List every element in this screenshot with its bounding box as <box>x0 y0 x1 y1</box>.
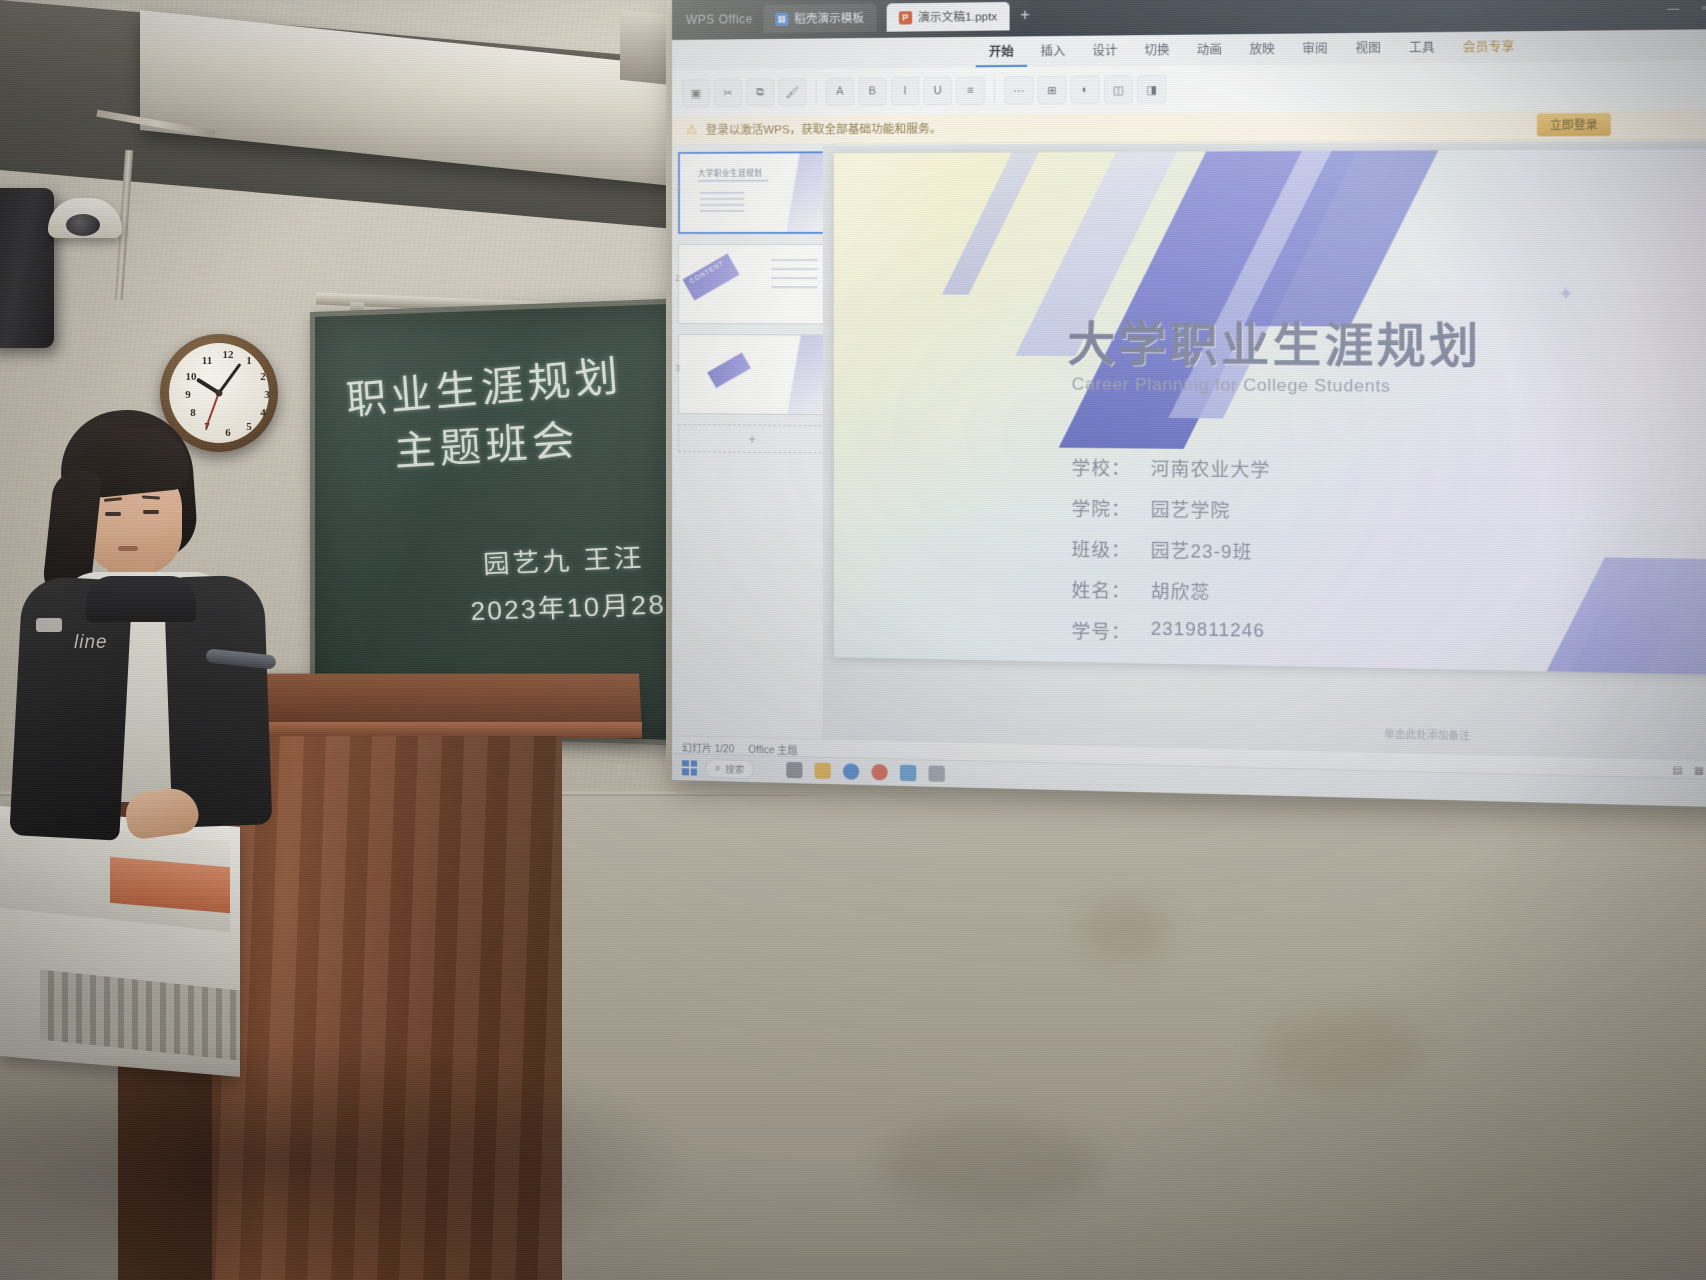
wall-stain <box>1260 1010 1420 1090</box>
notes-pane[interactable]: 单击此处添加备注 <box>976 697 1706 714</box>
arrange-icon[interactable]: ◫ <box>1104 75 1133 104</box>
login-now-button[interactable]: 立即登录 <box>1537 113 1611 136</box>
sparkle-icon: ✦ <box>1558 283 1574 305</box>
wps-office-window: WPS Office ▦ 稻壳演示模板 P 演示文稿1.pptx + — ▫ ✕ <box>672 0 1706 808</box>
login-banner: ⚠ 登录以激活WPS，获取全部基础功能和服务。 立即登录 <box>672 109 1706 145</box>
thumbnail-content-band <box>707 353 751 389</box>
app-icon[interactable] <box>900 765 916 782</box>
camera-lens-icon <box>66 214 100 236</box>
minimize-button[interactable]: — <box>1659 0 1688 20</box>
ribbon-tab-insert[interactable]: 插入 <box>1027 36 1079 67</box>
info-key: 姓名： <box>1072 576 1151 604</box>
select-icon[interactable]: ◨ <box>1137 75 1166 104</box>
info-value: 胡欣蕊 <box>1151 577 1211 605</box>
info-key: 学校： <box>1072 454 1151 481</box>
maximize-button[interactable]: ▫ <box>1690 0 1706 20</box>
slide-thumbnail-2[interactable]: 2 CONTENT <box>678 244 827 325</box>
presenter-mouth <box>118 546 138 551</box>
thumbnail-info-lines <box>700 192 744 216</box>
info-key: 班级： <box>1072 535 1151 563</box>
wall-speaker <box>0 188 54 348</box>
login-banner-text: 登录以激活WPS，获取全部基础功能和服务。 <box>706 120 942 138</box>
info-key: 学号： <box>1072 617 1151 645</box>
info-row-college: 学院： 园艺学院 <box>1072 495 1271 524</box>
clock-number: 11 <box>199 355 215 367</box>
wps-tab-label: 演示文稿1.pptx <box>918 8 997 25</box>
classroom-photo: 12 1 2 3 4 5 6 7 8 9 10 11 职业生涯规划 主题班会 园… <box>0 0 1706 1280</box>
blackboard-heading-line2: 主题班会 <box>393 406 581 478</box>
ribbon-tab-home[interactable]: 开始 <box>976 36 1028 67</box>
info-row-student-id: 学号： 2319811246 <box>1072 617 1271 647</box>
info-row-class: 班级： 园艺23-9班 <box>1072 535 1271 564</box>
grid-icon: ▦ <box>775 12 788 25</box>
view-normal-icon[interactable]: ▤ <box>1673 765 1683 777</box>
thumbnail-list-lines <box>771 259 817 295</box>
ribbon-tab-review[interactable]: 审阅 <box>1289 33 1342 64</box>
ribbon-toolbar: ▣ ✂ ⧉ 🖌 A B I U ≡ ⋯ ⊞ ◐ ◫ ◨ <box>672 60 1706 117</box>
toolbar-divider <box>994 78 995 102</box>
ribbon-tab-design[interactable]: 设计 <box>1079 35 1131 66</box>
ribbon-tab-animations[interactable]: 动画 <box>1183 34 1236 65</box>
font-icon[interactable]: A <box>826 77 854 105</box>
jacket-logo-badge <box>36 618 62 632</box>
wall-stain <box>880 1120 1100 1210</box>
thumbnail-subtitle-bar <box>698 180 768 182</box>
wps-tab-label: 稻壳演示模板 <box>794 10 864 27</box>
italic-icon[interactable]: I <box>891 77 920 106</box>
slide-subtitle: Career Planning for College Students <box>1072 374 1391 397</box>
info-row-name: 姓名： 胡欣蕊 <box>1072 576 1271 606</box>
presenter-eye <box>143 510 159 514</box>
shape-fill-icon[interactable]: ◐ <box>1071 75 1100 104</box>
browser-icon[interactable] <box>843 763 859 780</box>
presenter: line <box>0 400 280 870</box>
search-placeholder: 搜索 <box>725 761 744 776</box>
slide-number: 1 <box>676 182 681 192</box>
wall-stain <box>1080 900 1170 960</box>
slide-canvas-area[interactable]: ✦ 大学职业生涯规划 Career Planning for College S… <box>823 140 1706 761</box>
blackboard-date-label: 2023年10月28日 <box>470 582 698 628</box>
mail-icon[interactable] <box>929 765 945 782</box>
slide-number: 2 <box>675 273 680 283</box>
explorer-icon[interactable] <box>815 763 831 780</box>
info-key: 学院： <box>1072 495 1151 523</box>
ribbon-tab-member[interactable]: 会员专享 <box>1449 31 1529 63</box>
view-sorter-icon[interactable]: ▦ <box>1694 765 1704 777</box>
add-slide-button[interactable]: + <box>678 424 827 453</box>
clock-number: 2 <box>255 371 271 383</box>
copy-icon[interactable]: ⧉ <box>746 78 774 106</box>
toolbar-divider <box>816 80 817 104</box>
blackboard-class-label: 园艺九 王汪 <box>482 537 645 582</box>
jacket-logo-text: line <box>74 632 108 654</box>
powerpoint-icon: P <box>899 11 912 24</box>
info-value: 园艺23-9班 <box>1151 537 1253 565</box>
chrome-icon[interactable] <box>872 764 888 781</box>
align-icon[interactable]: ≡ <box>956 76 985 105</box>
cut-icon[interactable]: ✂ <box>714 78 742 106</box>
slide-thumbnail-1[interactable]: 1 大学职业生涯规划 <box>678 151 827 234</box>
wps-brand-label: WPS Office <box>686 12 753 27</box>
presenter-jacket-collar <box>86 576 196 622</box>
ribbon-tab-slideshow[interactable]: 放映 <box>1236 34 1289 65</box>
warning-icon: ⚠ <box>686 122 698 138</box>
format-painter-icon[interactable]: 🖌 <box>778 78 806 106</box>
current-slide[interactable]: ✦ 大学职业生涯规划 Career Planning for College S… <box>834 149 1706 675</box>
start-icon[interactable] <box>682 760 697 775</box>
new-tab-button[interactable]: + <box>1020 7 1030 25</box>
underline-icon[interactable]: U <box>923 77 952 106</box>
notes-placeholder: 单击此处添加备注 <box>1384 725 1470 743</box>
presenter-eye <box>105 512 121 516</box>
thumbnail-decoration <box>787 335 825 414</box>
info-value: 河南农业大学 <box>1151 455 1271 483</box>
ribbon-tab-transitions[interactable]: 切换 <box>1131 35 1183 66</box>
bold-icon[interactable]: B <box>858 77 886 105</box>
info-row-school: 学校： 河南农业大学 <box>1072 454 1271 483</box>
window-controls: — ▫ ✕ <box>1659 0 1706 20</box>
paste-icon[interactable]: ▣ <box>682 79 710 107</box>
taskbar-icon-group <box>787 762 946 782</box>
slide-thumbnail-pane[interactable]: 1 大学职业生涯规划 2 CONTENT 3 + <box>672 143 834 742</box>
slide-info-block: 学校： 河南农业大学 学院： 园艺学院 班级： 园艺23-9班 姓名： <box>1072 454 1271 662</box>
clock-number: 1 <box>241 355 257 367</box>
ribbon-tab-tools[interactable]: 工具 <box>1395 32 1449 64</box>
info-value: 2319811246 <box>1151 618 1265 647</box>
ribbon-tab-view[interactable]: 视图 <box>1342 33 1395 65</box>
wps-tab-presentation[interactable]: P 演示文稿1.pptx <box>886 2 1009 32</box>
floor-shadow <box>0 1040 700 1280</box>
search-icon: ⌕ <box>715 763 720 774</box>
presenter-eyebrow <box>142 495 160 499</box>
info-value: 园艺学院 <box>1151 496 1231 524</box>
slide-number: 3 <box>675 363 680 373</box>
status-right-group: ▤ ▦ —◉— <box>1673 765 1706 778</box>
taskbar-search-box[interactable]: ⌕ 搜索 <box>705 758 754 778</box>
clock-center-pin <box>216 390 223 397</box>
layout-icon[interactable]: ⊞ <box>1037 76 1066 105</box>
slide-title: 大学职业生涯规划 <box>1067 307 1481 377</box>
more-icon[interactable]: ⋯ <box>1004 76 1033 105</box>
presenter-eyebrow <box>104 497 122 502</box>
wps-tab-templates[interactable]: ▦ 稻壳演示模板 <box>763 4 876 33</box>
thumbnail-title: 大学职业生涯规划 <box>698 168 762 179</box>
clock-number: 12 <box>220 349 236 361</box>
projected-screen: WPS Office ▦ 稻壳演示模板 P 演示文稿1.pptx + — ▫ ✕ <box>672 0 1706 808</box>
slide-thumbnail-3[interactable]: 3 <box>678 334 827 415</box>
clock-minute-hand <box>218 363 242 394</box>
widgets-icon[interactable] <box>787 762 803 779</box>
thumbnail-decoration <box>786 153 824 232</box>
